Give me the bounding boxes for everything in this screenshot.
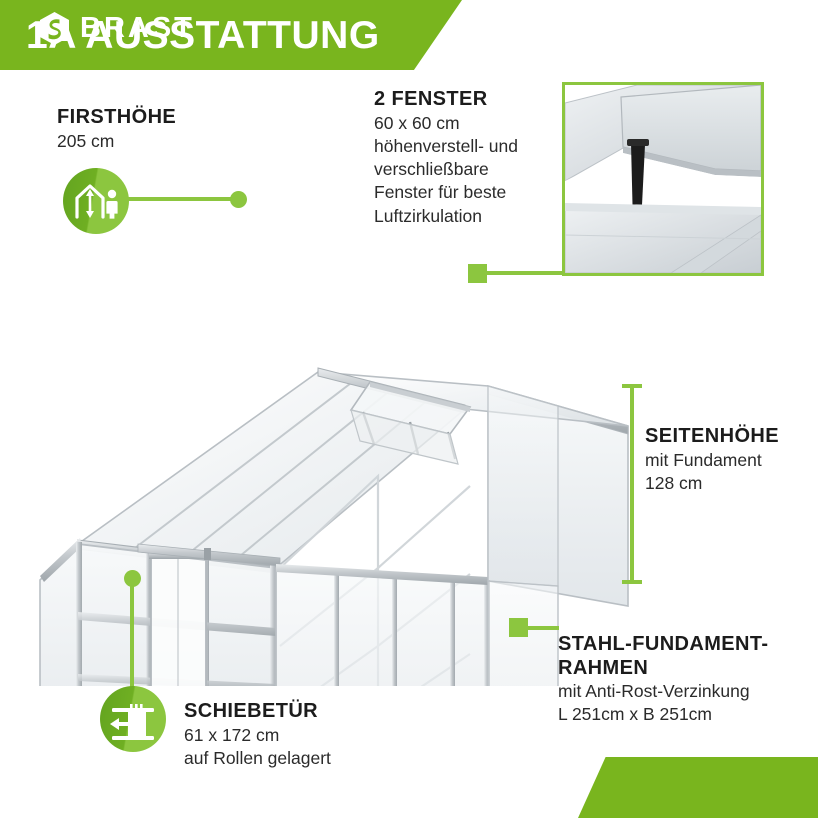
callout-sliding-door-title: SCHIEBETÜR [184, 700, 384, 724]
callout-side-height: SEITENHÖHE mit Fundament 128 cm [645, 425, 815, 495]
house-height-person-icon [63, 168, 129, 234]
brast-hexagon-logo-icon [40, 12, 69, 45]
callout-ridge-height-title: FIRSTHÖHE [57, 106, 176, 130]
connector-dot-ridge-height [230, 191, 247, 208]
callout-foundation-line-0: mit Anti-Rost-Verzinkung [558, 680, 818, 703]
callout-foundation-title: STAHL-FUNDAMENT-RAHMEN [558, 633, 818, 680]
callout-sliding-door: SCHIEBETÜR 61 x 172 cm auf Rollen gelage… [184, 700, 384, 770]
connector-line-windows [485, 271, 571, 275]
dimension-cap-bottom [622, 580, 642, 584]
callout-side-height-line-0: mit Fundament [645, 449, 815, 472]
callout-side-height-line-1: 128 cm [645, 472, 815, 495]
callout-windows-line-0: 60 x 60 cm [374, 112, 564, 135]
callout-foundation: STAHL-FUNDAMENT-RAHMEN mit Anti-Rost-Ver… [558, 633, 818, 727]
callout-windows-line-2: verschließbare [374, 158, 564, 181]
dimension-stem [630, 384, 634, 584]
callout-foundation-line-1: L 251cm x B 251cm [558, 703, 818, 726]
infographic-page: 1A AUSSTATTUNG FIRSTHÖHE 205 cm 2 FENSTE… [0, 0, 818, 818]
connector-line-foundation [527, 626, 559, 630]
brand-banner [578, 757, 818, 818]
brand-lockup: BRAST [40, 12, 195, 45]
callout-ridge-height-line-0: 205 cm [57, 130, 176, 153]
connector-line-sliding-door [130, 578, 134, 690]
connector-line-ridge-height [128, 197, 234, 201]
callout-windows-line-1: höhenverstell- und [374, 135, 564, 158]
sliding-door-arrow-icon [100, 686, 166, 752]
connector-marker-foundation [509, 618, 528, 637]
dimension-line-side-height [622, 384, 642, 584]
inset-roof-window-photo [562, 82, 764, 276]
callout-sliding-door-line-0: 61 x 172 cm [184, 724, 384, 747]
callout-windows: 2 FENSTER 60 x 60 cm höhenverstell- und … [374, 88, 564, 228]
callout-windows-title: 2 FENSTER [374, 88, 564, 112]
callout-side-height-title: SEITENHÖHE [645, 425, 815, 449]
callout-sliding-door-line-1: auf Rollen gelagert [184, 747, 384, 770]
callout-windows-line-3: Fenster für beste [374, 181, 564, 204]
callout-windows-line-4: Luftzirkulation [374, 205, 564, 228]
brand-wordmark: BRAST [80, 14, 195, 43]
callout-ridge-height: FIRSTHÖHE 205 cm [57, 106, 176, 153]
